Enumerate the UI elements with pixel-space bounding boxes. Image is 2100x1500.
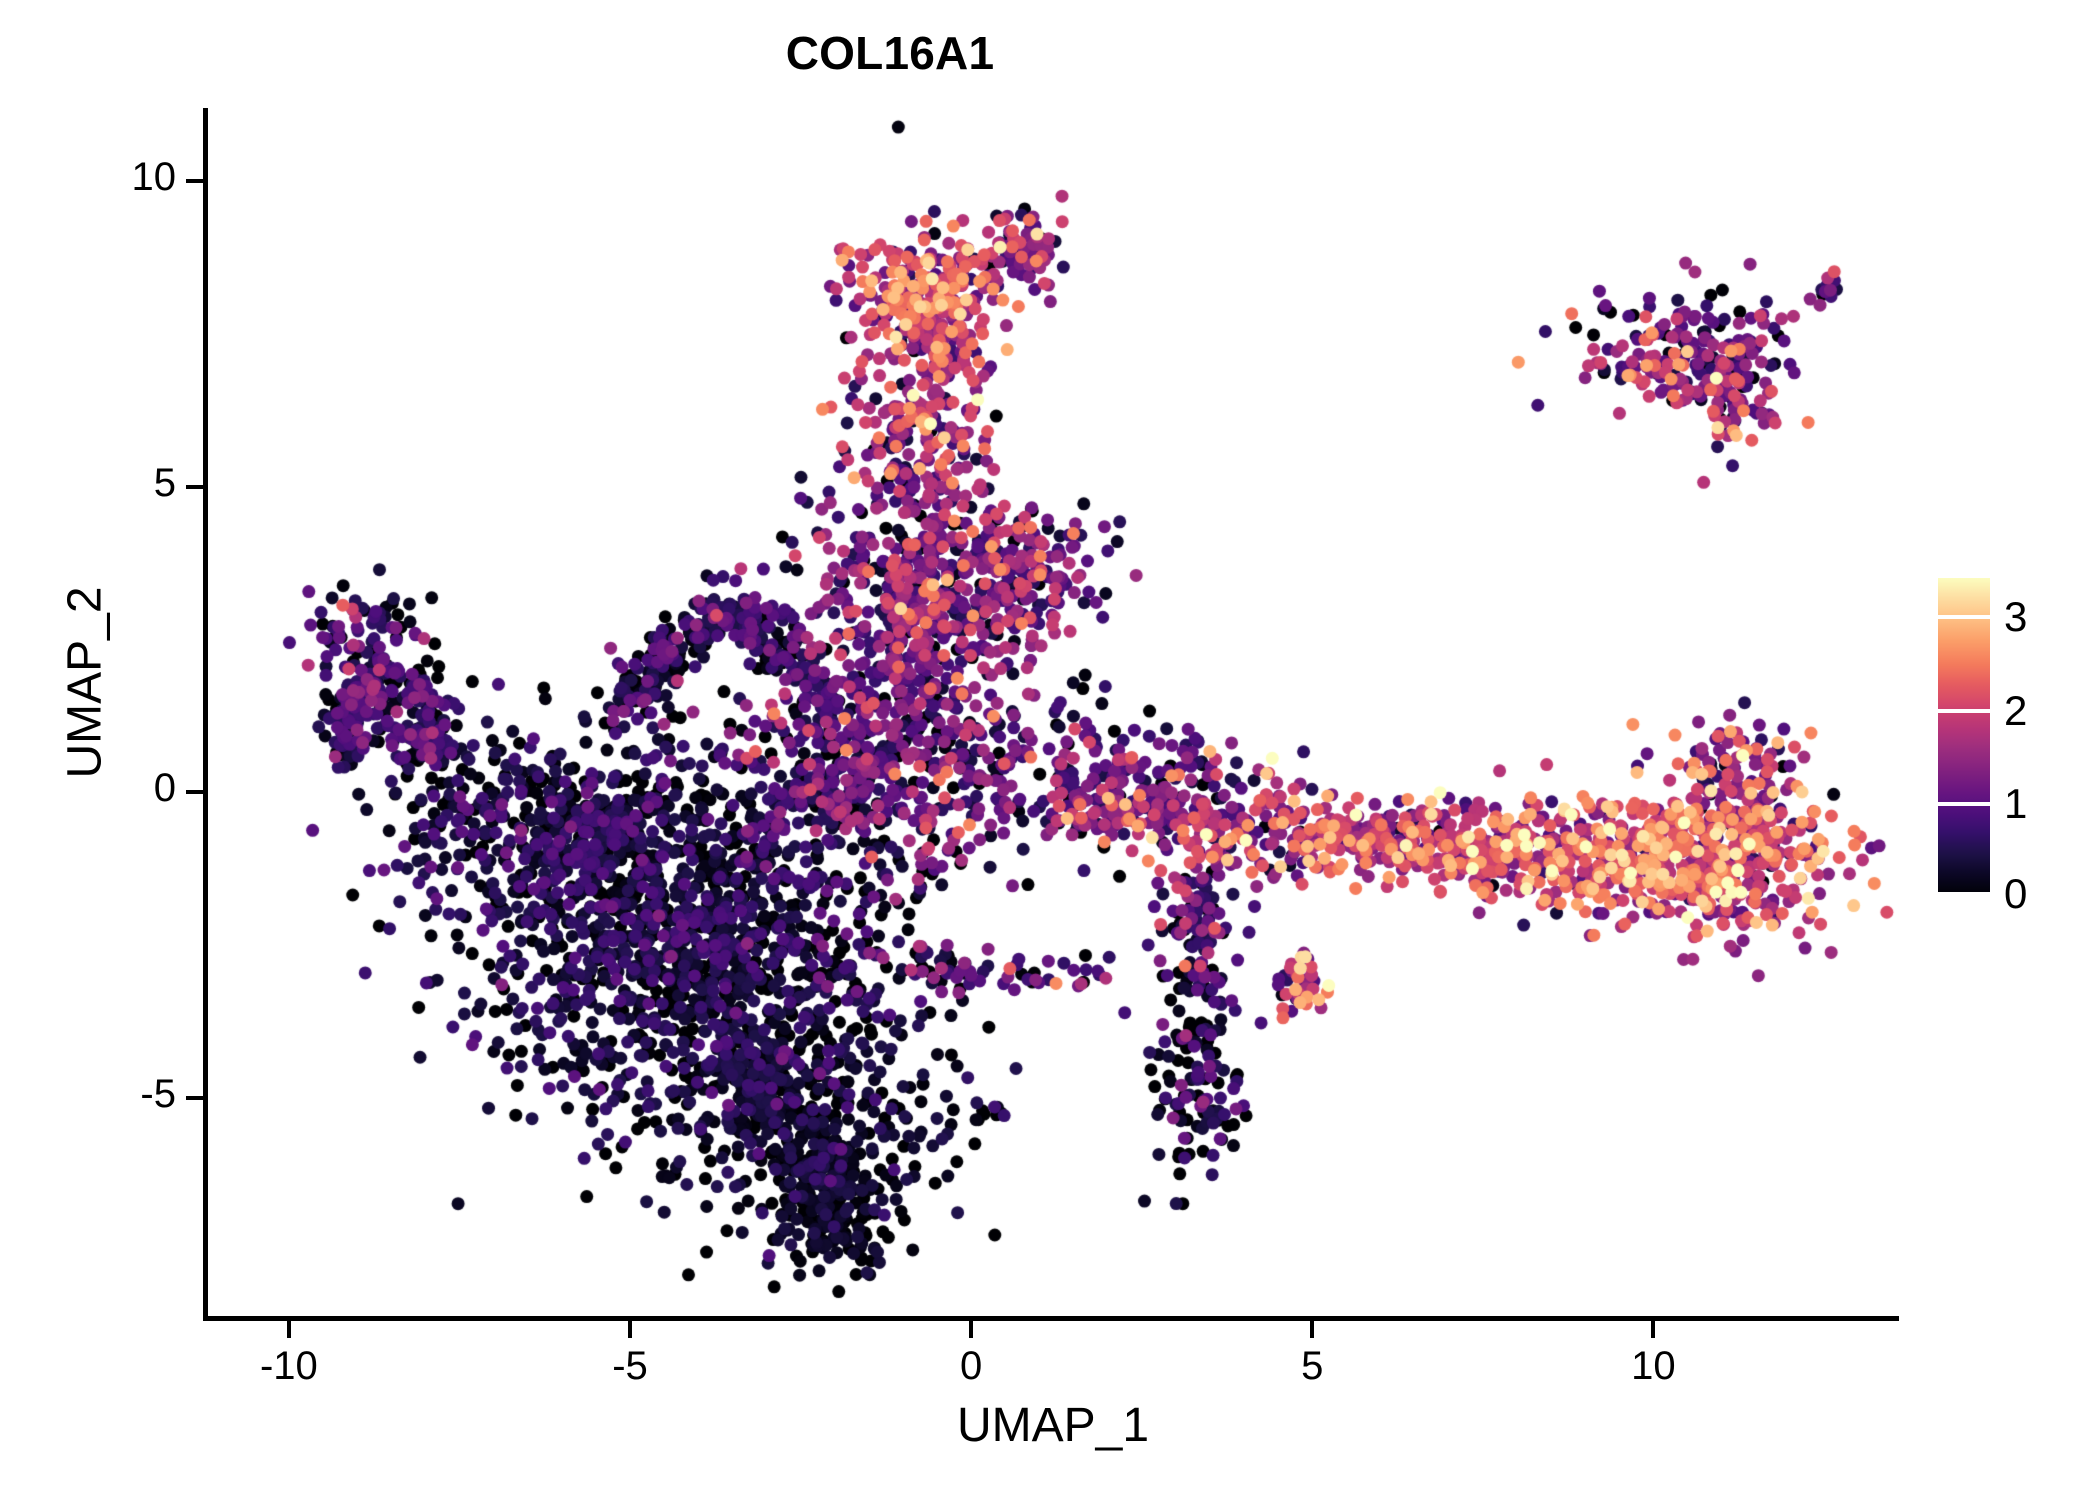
colorbar-tick-label: 1 <box>2004 780 2027 828</box>
colorbar-tick-label: 0 <box>2004 870 2027 918</box>
y-tick-mark <box>186 1096 203 1100</box>
colorbar-gradient <box>1938 578 1990 896</box>
colorbar-tick-label: 2 <box>2004 687 2027 735</box>
y-axis-line <box>203 108 208 1320</box>
colorbar-tick-mark <box>1938 709 1990 713</box>
y-tick-mark <box>186 790 203 794</box>
x-tick-label: -5 <box>550 1344 710 1389</box>
x-tick-mark <box>287 1321 291 1338</box>
colorbar-tick-label: 3 <box>2004 593 2027 641</box>
feature-plot-figure: COL16A1 -50510 -10-50510 UMAP_1 UMAP_2 3… <box>0 0 2100 1500</box>
x-tick-mark <box>628 1321 632 1338</box>
colorbar-legend: 3210 <box>1938 578 2068 898</box>
x-tick-label: 0 <box>891 1344 1051 1389</box>
y-tick-mark <box>186 485 203 489</box>
x-tick-mark <box>1310 1321 1314 1338</box>
x-tick-label: 10 <box>1573 1344 1733 1389</box>
x-tick-label: -10 <box>209 1344 369 1389</box>
x-axis-title: UMAP_1 <box>207 1398 1899 1453</box>
scatter-plot-panel <box>207 108 1899 1318</box>
colorbar-tick-mark <box>1938 615 1990 619</box>
x-tick-mark <box>1651 1321 1655 1338</box>
page-title: COL16A1 <box>0 26 1780 80</box>
scatter-points-layer <box>207 108 1899 1318</box>
x-tick-mark <box>969 1321 973 1338</box>
colorbar-tick-mark <box>1938 802 1990 806</box>
x-tick-label: 5 <box>1232 1344 1392 1389</box>
y-axis-title: UMAP_2 <box>58 243 113 1123</box>
y-tick-label: 10 <box>26 155 176 200</box>
y-tick-mark <box>186 179 203 183</box>
x-axis-line <box>203 1316 1899 1321</box>
colorbar-tick-mark <box>1938 892 1990 896</box>
